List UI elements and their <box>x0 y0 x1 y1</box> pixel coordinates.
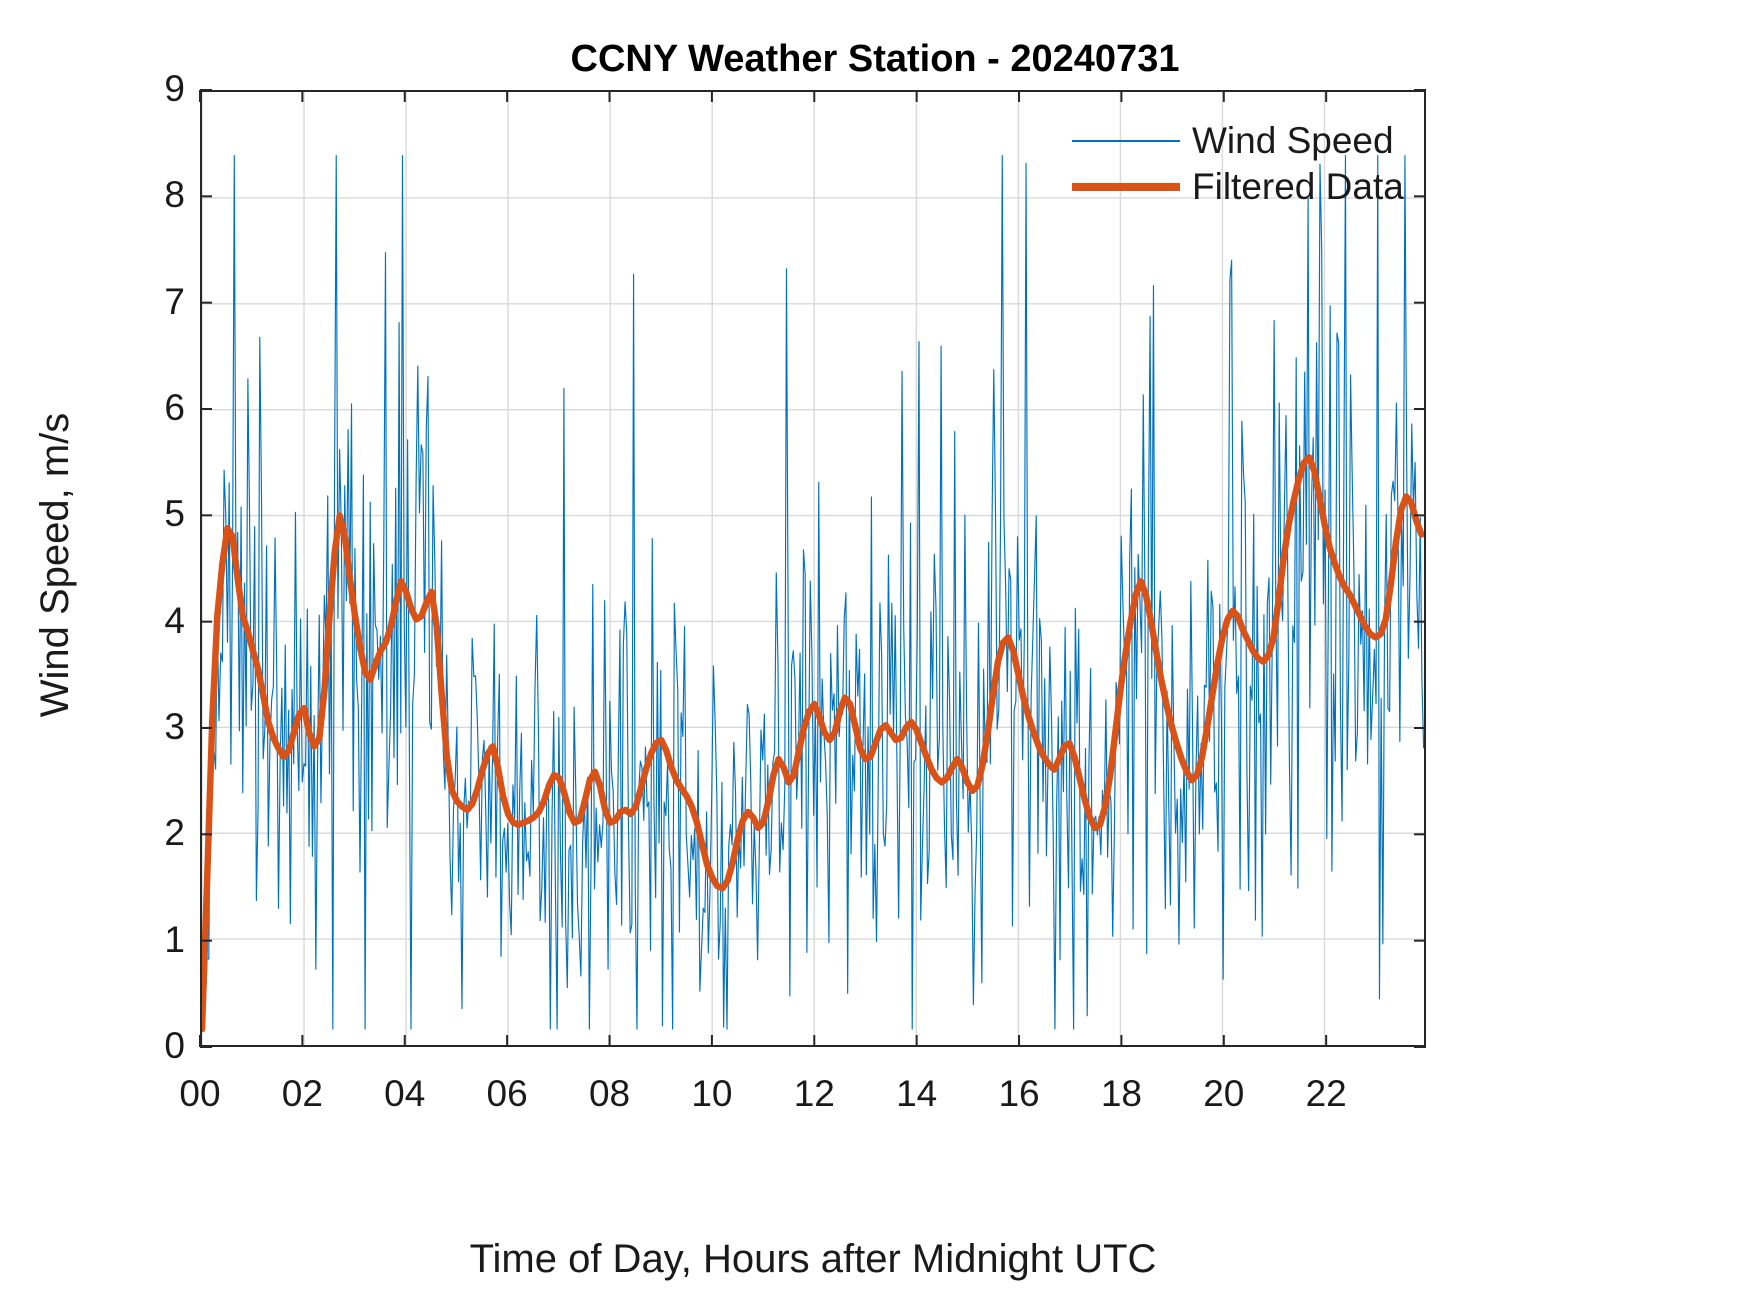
x-tick-label: 14 <box>862 1075 972 1112</box>
x-tick-label: 04 <box>350 1075 460 1112</box>
legend-swatch-wind-speed <box>1072 140 1180 142</box>
x-tick-label: 02 <box>247 1075 357 1112</box>
legend-item-filtered-data[interactable]: Filtered Data <box>1072 164 1402 210</box>
x-axis-label: Time of Day, Hours after Midnight UTC <box>200 1237 1426 1282</box>
x-tick-label: 08 <box>555 1075 665 1112</box>
legend-swatch-filtered-data <box>1072 183 1180 191</box>
x-tick-label: 18 <box>1066 1075 1176 1112</box>
legend: Wind Speed Filtered Data <box>1072 118 1402 210</box>
legend-label-filtered-data: Filtered Data <box>1192 166 1404 208</box>
x-tick-label: 12 <box>759 1075 869 1112</box>
y-axis-label-wrapper: Wind Speed, m/s <box>33 165 93 965</box>
x-tick-label: 00 <box>145 1075 255 1112</box>
x-tick-label: 10 <box>657 1075 767 1112</box>
legend-item-wind-speed[interactable]: Wind Speed <box>1072 118 1402 164</box>
x-axis-tick-labels: 000204060810121416182022 <box>0 0 1750 1313</box>
x-tick-label: 16 <box>964 1075 1074 1112</box>
figure-canvas: CCNY Weather Station - 20240731 01234567… <box>0 0 1750 1313</box>
x-tick-label: 22 <box>1271 1075 1381 1112</box>
x-tick-label: 06 <box>452 1075 562 1112</box>
y-axis-label: Wind Speed, m/s <box>33 165 78 965</box>
legend-label-wind-speed: Wind Speed <box>1192 120 1394 162</box>
x-tick-label: 20 <box>1169 1075 1279 1112</box>
